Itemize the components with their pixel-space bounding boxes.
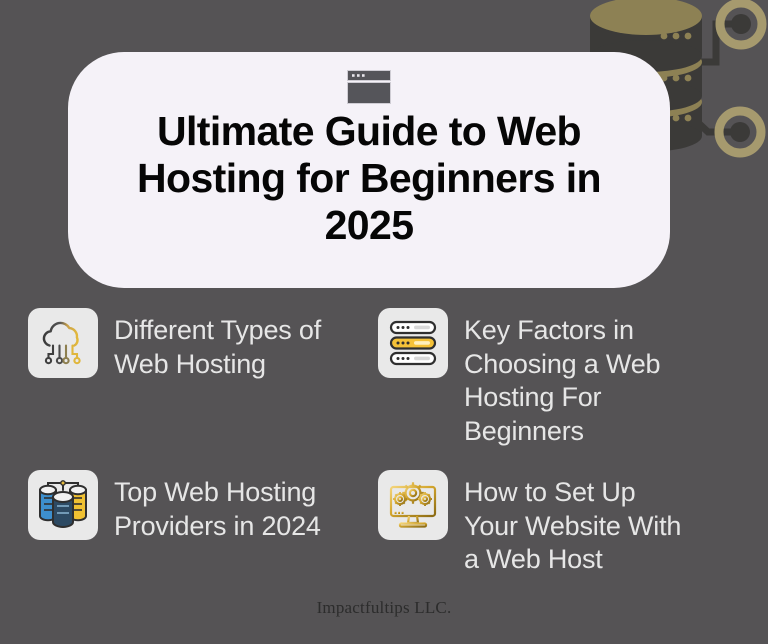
feature-label: Top Web Hosting Providers in 2024 (114, 470, 358, 543)
page-title: Ultimate Guide to Web Hosting for Beginn… (90, 108, 648, 249)
hero-card: Ultimate Guide to Web Hosting for Beginn… (68, 52, 670, 288)
server-rack-icon (378, 308, 448, 378)
features-grid: Different Types of Web Hosting (28, 308, 740, 577)
database-cluster-icon (28, 470, 98, 540)
feature-item-setup-guide[interactable]: How to Set Up Your Website With a Web Ho… (378, 470, 718, 577)
feature-label: Different Types of Web Hosting (114, 308, 358, 381)
poster-canvas: Ultimate Guide to Web Hosting for Beginn… (0, 0, 768, 644)
feature-label: How to Set Up Your Website With a Web Ho… (464, 470, 696, 577)
monitor-gears-icon (378, 470, 448, 540)
feature-item-hosting-types[interactable]: Different Types of Web Hosting (28, 308, 368, 448)
cloud-network-icon (28, 308, 98, 378)
footer-brand: Impactfultips LLC. (0, 598, 768, 618)
feature-item-top-providers[interactable]: Top Web Hosting Providers in 2024 (28, 470, 368, 577)
browser-window-icon (347, 70, 391, 104)
feature-item-key-factors[interactable]: Key Factors in Choosing a Web Hosting Fo… (378, 308, 718, 448)
feature-label: Key Factors in Choosing a Web Hosting Fo… (464, 308, 696, 448)
